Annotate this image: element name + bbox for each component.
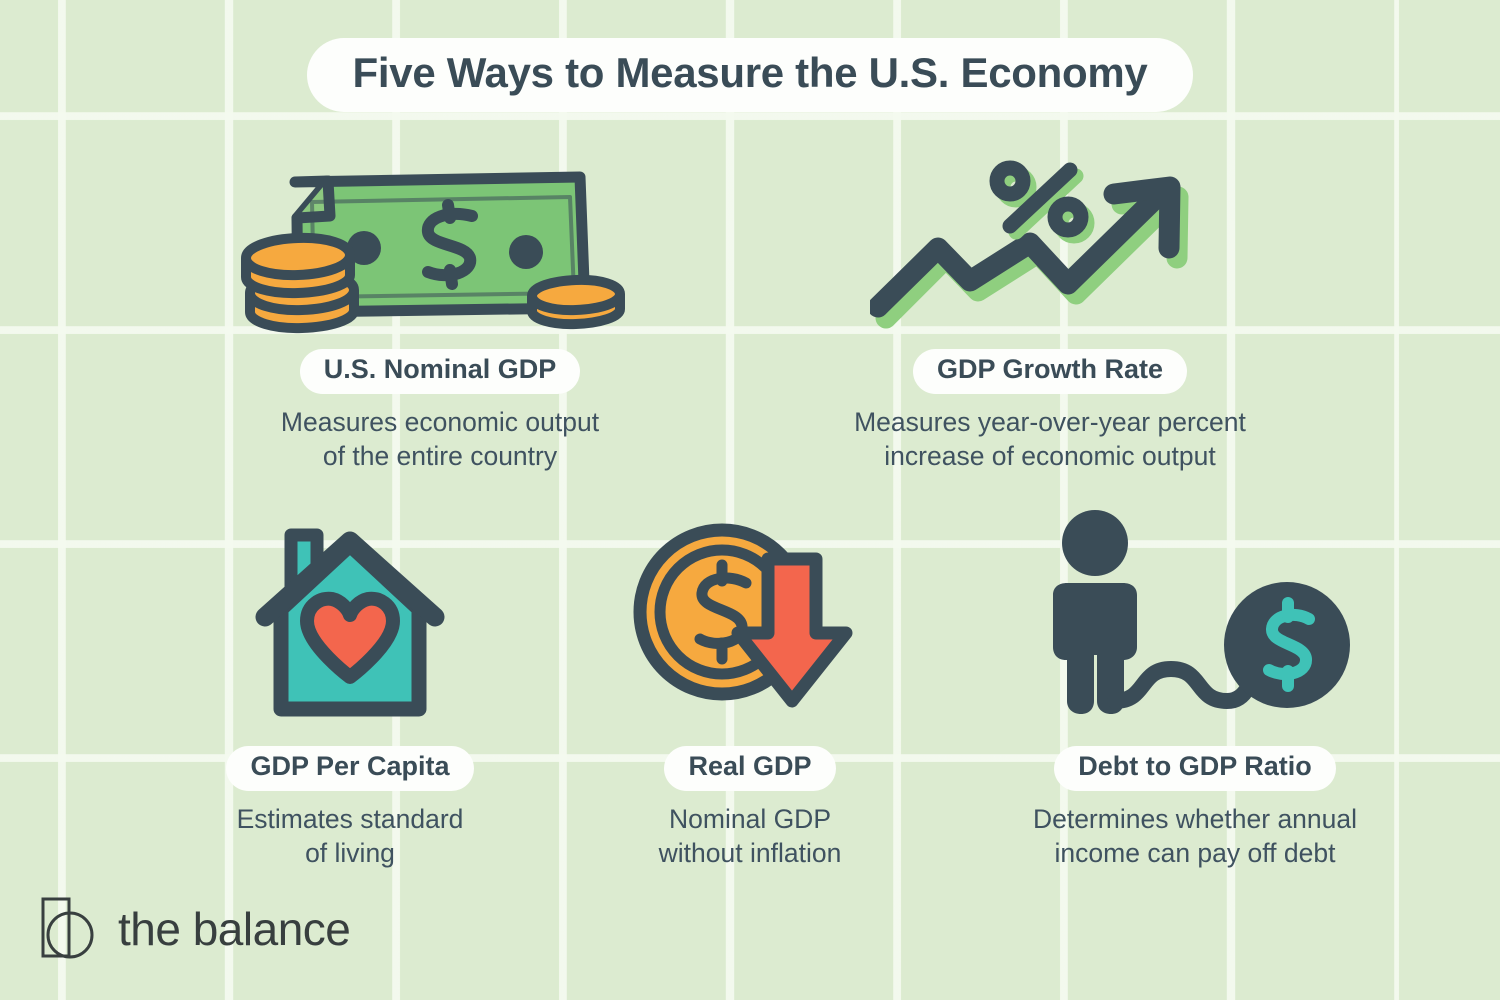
measure-label: GDP Growth Rate [913,349,1187,394]
measure-card-gdp-per-capita: GDP Per Capita Estimates standard of liv… [110,505,590,871]
coin-down-arrow-icon [560,505,940,730]
label-row: Debt to GDP Ratio [930,746,1460,791]
brand-logo-text: the balance [118,906,350,956]
rectangle-circle-logo-mark-icon [38,895,100,966]
label-row: U.S. Nominal GDP [150,349,730,394]
title-container: Five Ways to Measure the U.S. Economy [0,38,1500,112]
measure-card-real-gdp: Real GDP Nominal GDP without inflation [560,505,940,871]
measure-description: Nominal GDP without inflation [560,803,940,871]
measure-card-debt-to-gdp-ratio: Debt to GDP Ratio Determines whether ann… [930,505,1460,871]
label-row: Real GDP [560,746,940,791]
infographic-poster: Five Ways to Measure the U.S. Economy [0,0,1500,1000]
brand-logo[interactable]: the balance [38,895,350,966]
measure-description: Determines whether annual income can pay… [930,803,1460,871]
measure-card-gdp-growth-rate: GDP Growth Rate Measures year-over-year … [760,160,1340,474]
upward-trend-percent-icon [760,160,1340,335]
page-title: Five Ways to Measure the U.S. Economy [307,38,1194,112]
person-ball-and-chain-icon [930,505,1460,730]
house-heart-icon [110,505,590,730]
measure-description: Measures economic output of the entire c… [150,406,730,474]
money-bill-coins-icon [150,160,730,335]
measure-description: Measures year-over-year percent increase… [760,406,1340,474]
measure-label: GDP Per Capita [226,746,473,791]
measure-label: Debt to GDP Ratio [1054,746,1336,791]
label-row: GDP Per Capita [110,746,590,791]
label-row: GDP Growth Rate [760,349,1340,394]
measure-description: Estimates standard of living [110,803,590,871]
measure-label: U.S. Nominal GDP [300,349,581,394]
measure-label: Real GDP [664,746,835,791]
measure-card-nominal-gdp: U.S. Nominal GDP Measures economic outpu… [150,160,730,474]
